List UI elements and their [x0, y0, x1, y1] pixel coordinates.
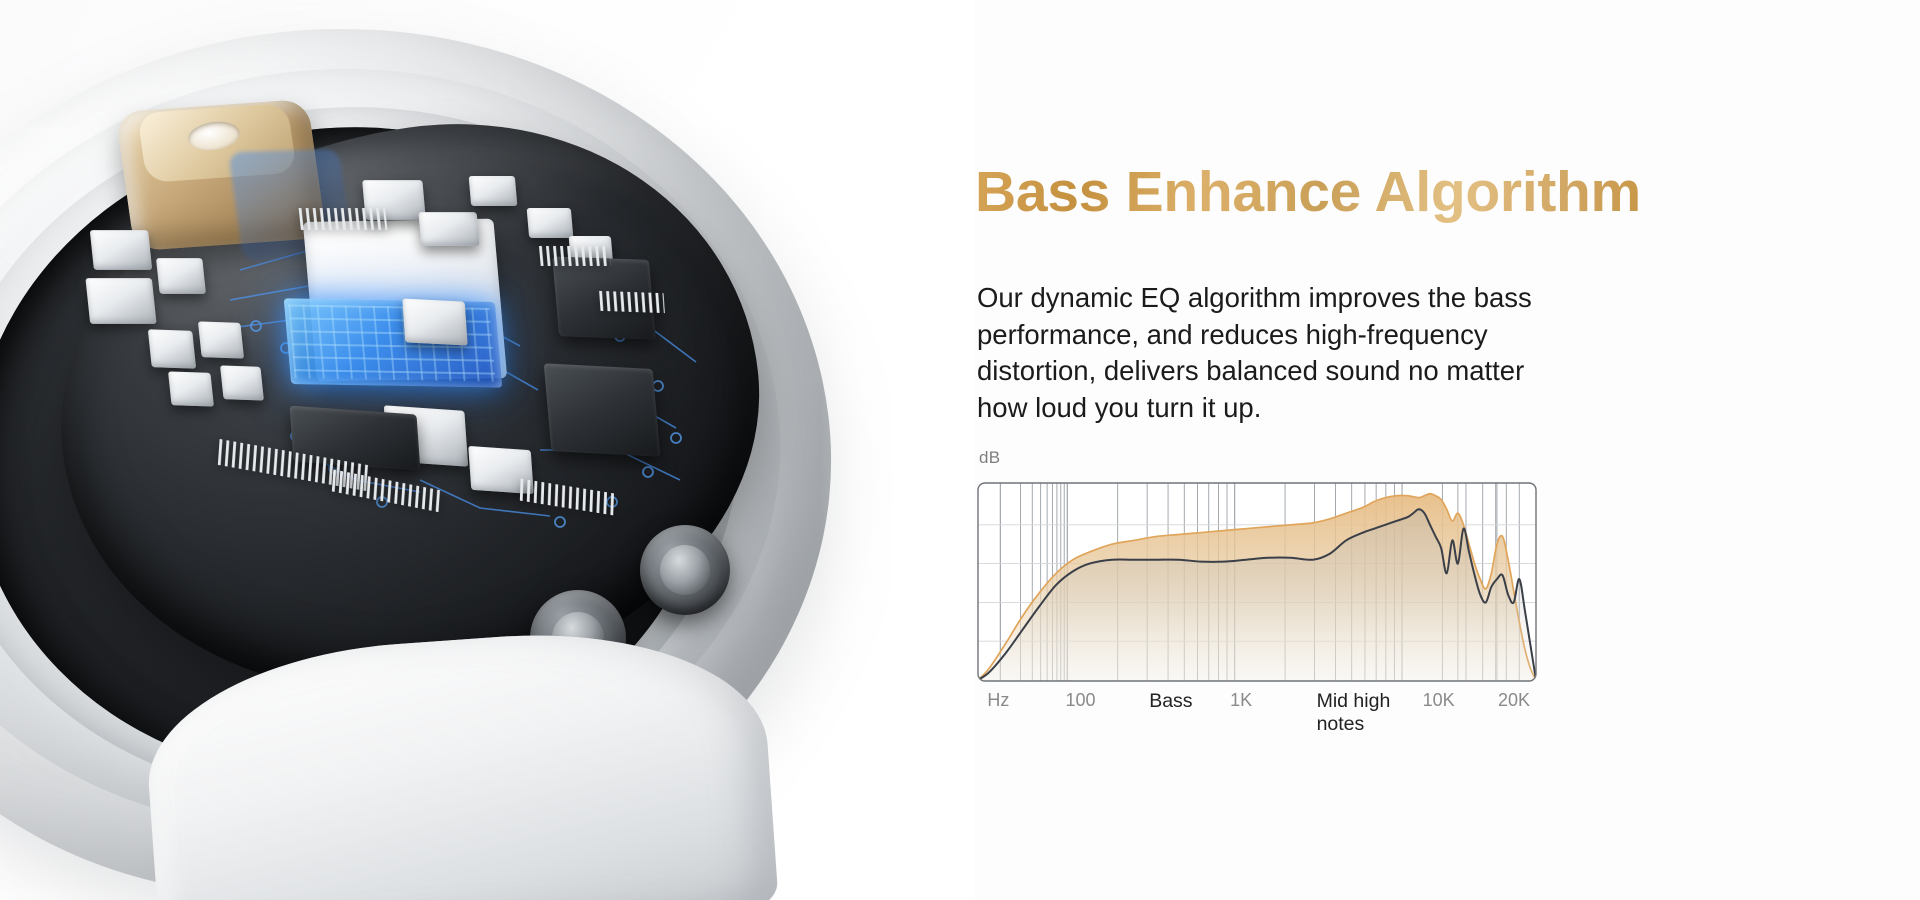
x-tick-label: 100	[1065, 690, 1095, 711]
x-tick-label: 10K	[1423, 690, 1455, 711]
smd-component	[402, 298, 467, 345]
smd-component	[469, 176, 518, 206]
connector-pins	[539, 246, 611, 266]
eq-chart-svg	[977, 482, 1537, 682]
x-tick-label: 20K	[1498, 690, 1530, 711]
smd-component	[198, 321, 244, 358]
smd-component	[148, 329, 196, 368]
smd-component	[90, 230, 153, 270]
x-tick-label: Bass	[1149, 690, 1192, 713]
image-right-fade	[820, 0, 975, 900]
smd-component	[156, 258, 206, 294]
hero-banner: Bass Enhance Algorithm Our dynamic EQ al…	[0, 0, 1920, 900]
frequency-response-chart	[977, 482, 1537, 682]
smd-component	[168, 371, 214, 406]
x-tick-label: Mid high notes	[1317, 690, 1427, 735]
x-tick-label: Hz	[987, 690, 1009, 711]
smd-component	[527, 208, 574, 238]
y-axis-label: dB	[979, 448, 1000, 468]
x-axis-labels: Hz100Bass1KMid high notes10K20K	[977, 690, 1557, 750]
product-image	[0, 0, 975, 900]
control-knob-center	[660, 545, 710, 595]
connector-pins	[299, 208, 388, 230]
connector-pins	[599, 291, 665, 313]
smd-component	[418, 212, 479, 246]
smd-component	[85, 278, 156, 324]
x-tick-label: 1K	[1230, 690, 1252, 711]
ic-package	[544, 363, 661, 456]
description-text: Our dynamic EQ algorithm improves the ba…	[977, 280, 1577, 426]
copy-panel: Bass Enhance Algorithm Our dynamic EQ al…	[975, 0, 1920, 900]
smd-component	[220, 365, 264, 400]
page-title: Bass Enhance Algorithm	[975, 163, 1641, 223]
